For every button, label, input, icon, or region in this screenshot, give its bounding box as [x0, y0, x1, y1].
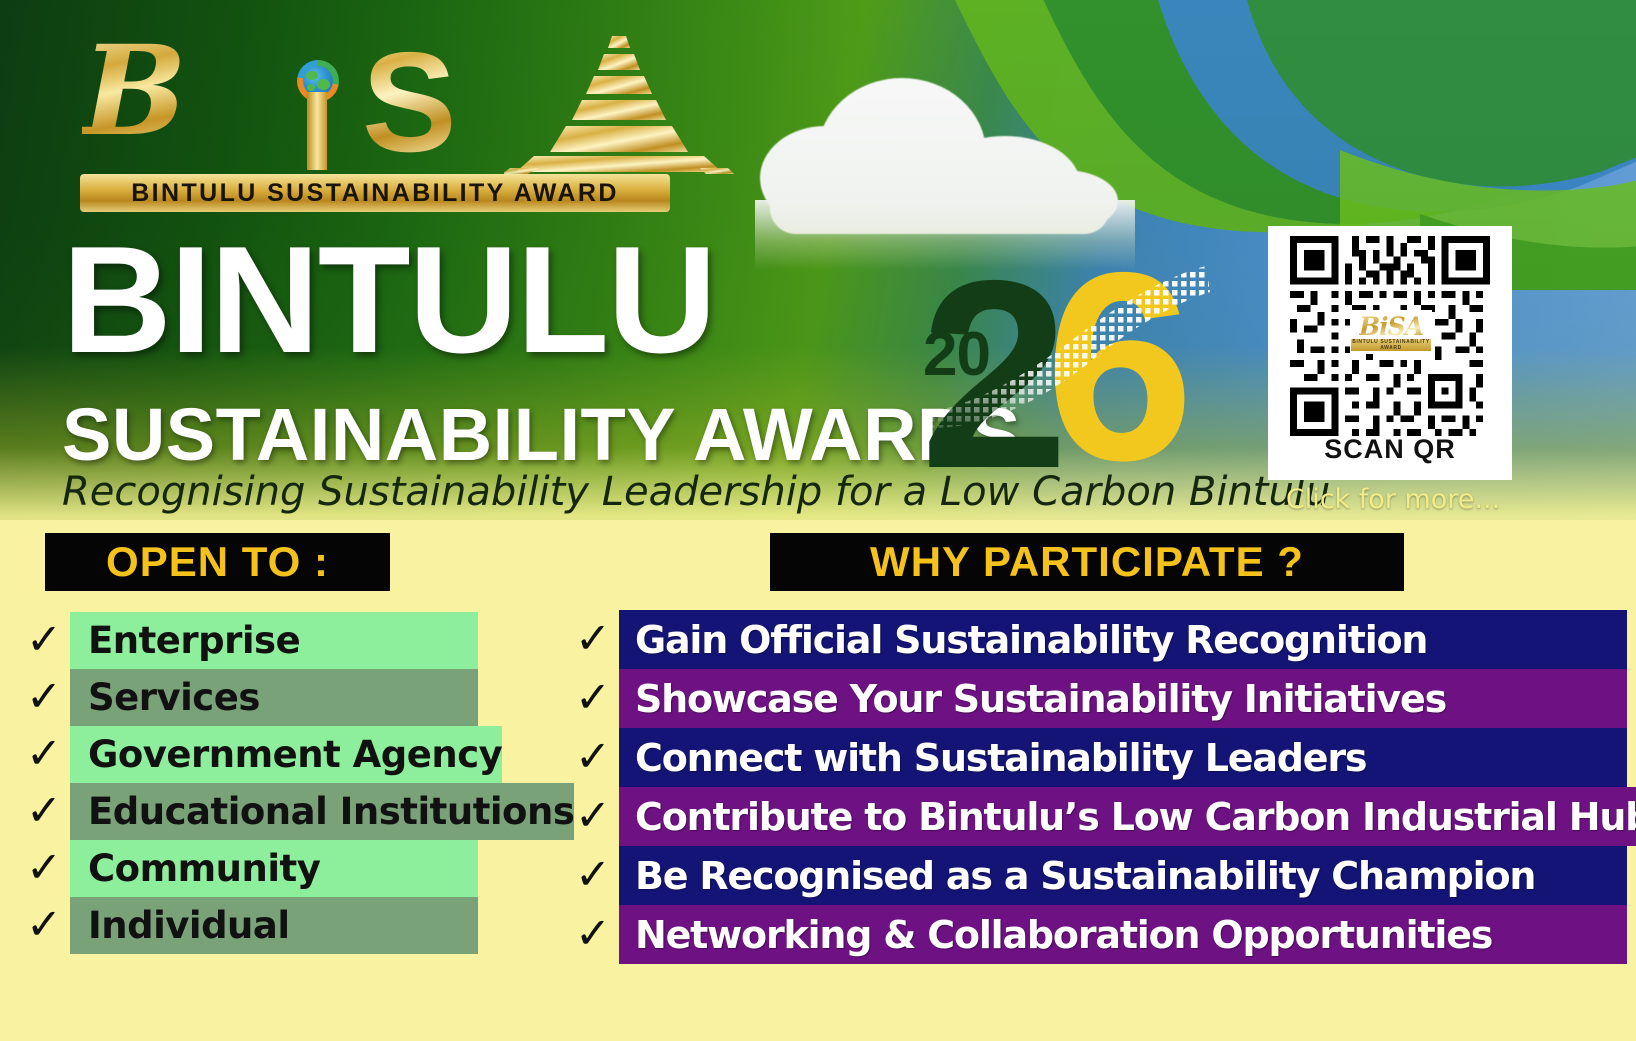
open-to-item-label: Individual: [88, 904, 290, 947]
page-title: BINTULU: [62, 228, 715, 374]
bisa-logo: B S: [72, 22, 672, 217]
checkmark-icon: ✓: [18, 847, 70, 890]
why-participate-item-pill: Connect with Sustainability Leaders: [619, 728, 1627, 787]
open-to-item-row: ✓Educational Institutions: [18, 783, 478, 840]
checkmark-icon: ✓: [567, 795, 619, 838]
open-to-item-label: Community: [88, 847, 320, 890]
why-participate-item-pill: Showcase Your Sustainability Initiatives: [619, 669, 1627, 728]
open-to-item-pill: Educational Institutions: [70, 783, 574, 840]
logo-letter-b: B: [82, 30, 181, 154]
why-participate-item-pill: Networking & Collaboration Opportunities: [619, 905, 1627, 964]
logo-letter-i-stem: [307, 92, 327, 170]
why-participate-item-row: ✓Contribute to Bintulu’s Low Carbon Indu…: [567, 787, 1627, 846]
why-participate-item-pill: Gain Official Sustainability Recognition: [619, 610, 1627, 669]
checkmark-icon: ✓: [567, 913, 619, 956]
section-banner-open-to: OPEN TO :: [45, 533, 390, 591]
qr-center-logo-caption: BINTULU SUSTAINABILITY AWARD: [1351, 339, 1431, 351]
qr-click-for-more-link[interactable]: Click for more...: [1268, 484, 1518, 515]
open-to-item-pill: Community: [70, 840, 478, 897]
logo-caption-text: BINTULU SUSTAINABILITY AWARD: [131, 179, 619, 208]
why-participate-item-label: Be Recognised as a Sustainability Champi…: [635, 854, 1535, 898]
why-participate-item-label: Gain Official Sustainability Recognition: [635, 618, 1427, 662]
open-to-item-label: Government Agency: [88, 733, 502, 776]
year-graphic: 6 2 20: [905, 232, 1225, 492]
why-participate-item-row: ✓Connect with Sustainability Leaders: [567, 728, 1627, 787]
bisa-logo-mark: B S: [72, 22, 672, 172]
why-participate-item-label: Connect with Sustainability Leaders: [635, 736, 1366, 780]
section-banner-why-participate: WHY PARTICIPATE ?: [770, 533, 1404, 591]
checkmark-icon: ✓: [18, 619, 70, 662]
why-participate-item-row: ✓Showcase Your Sustainability Initiative…: [567, 669, 1627, 728]
open-to-item-row: ✓Government Agency: [18, 726, 478, 783]
why-participate-item-pill: Contribute to Bintulu’s Low Carbon Indus…: [619, 787, 1636, 846]
why-participate-item-label: Contribute to Bintulu’s Low Carbon Indus…: [635, 795, 1636, 839]
open-to-item-label: Services: [88, 676, 260, 719]
checkmark-icon: ✓: [18, 790, 70, 833]
checkmark-icon: ✓: [567, 618, 619, 661]
qr-code-card[interactable]: BiSA BINTULU SUSTAINABILITY AWARD SCAN Q…: [1268, 226, 1512, 480]
logo-letter-s: S: [362, 32, 457, 174]
page-subtitle: SUSTAINABILITY AWARDS: [62, 398, 1021, 472]
why-participate-item-pill: Be Recognised as a Sustainability Champi…: [619, 846, 1627, 905]
qr-scan-label: SCAN QR: [1268, 434, 1512, 465]
gas-flare-tower-icon: [504, 34, 734, 174]
checkmark-icon: ✓: [18, 733, 70, 776]
qr-center-logo: BiSA BINTULU SUSTAINABILITY AWARD: [1350, 310, 1432, 354]
why-participate-item-row: ✓Gain Official Sustainability Recognitio…: [567, 610, 1627, 669]
open-to-item-row: ✓Services: [18, 669, 478, 726]
open-to-item-row: ✓Community: [18, 840, 478, 897]
open-to-item-pill: Government Agency: [70, 726, 502, 783]
open-to-item-row: ✓Enterprise: [18, 612, 478, 669]
why-participate-list: ✓Gain Official Sustainability Recognitio…: [567, 610, 1627, 964]
section-banner-why-participate-label: WHY PARTICIPATE ?: [870, 538, 1304, 586]
why-participate-item-row: ✓Networking & Collaboration Opportunitie…: [567, 905, 1627, 964]
open-to-item-row: ✓Individual: [18, 897, 478, 954]
why-participate-item-label: Networking & Collaboration Opportunities: [635, 913, 1492, 957]
open-to-item-label: Enterprise: [88, 619, 300, 662]
checkmark-icon: ✓: [18, 904, 70, 947]
checkmark-icon: ✓: [567, 854, 619, 897]
halftone-swoosh-icon: [910, 262, 1210, 432]
logo-caption-bar: BINTULU SUSTAINABILITY AWARD: [80, 174, 670, 212]
why-participate-item-row: ✓Be Recognised as a Sustainability Champ…: [567, 846, 1627, 905]
open-to-item-label: Educational Institutions: [88, 790, 574, 833]
poster-root: B S: [0, 0, 1636, 1041]
checkmark-icon: ✓: [567, 677, 619, 720]
checkmark-icon: ✓: [567, 736, 619, 779]
why-participate-item-label: Showcase Your Sustainability Initiatives: [635, 677, 1446, 721]
qr-center-logo-letters: BiSA: [1359, 314, 1423, 339]
checkmark-icon: ✓: [18, 676, 70, 719]
section-banner-open-to-label: OPEN TO :: [106, 538, 329, 586]
open-to-item-pill: Services: [70, 669, 478, 726]
open-to-list: ✓Enterprise✓Services✓Government Agency✓E…: [18, 612, 478, 954]
open-to-item-pill: Individual: [70, 897, 478, 954]
open-to-item-pill: Enterprise: [70, 612, 478, 669]
